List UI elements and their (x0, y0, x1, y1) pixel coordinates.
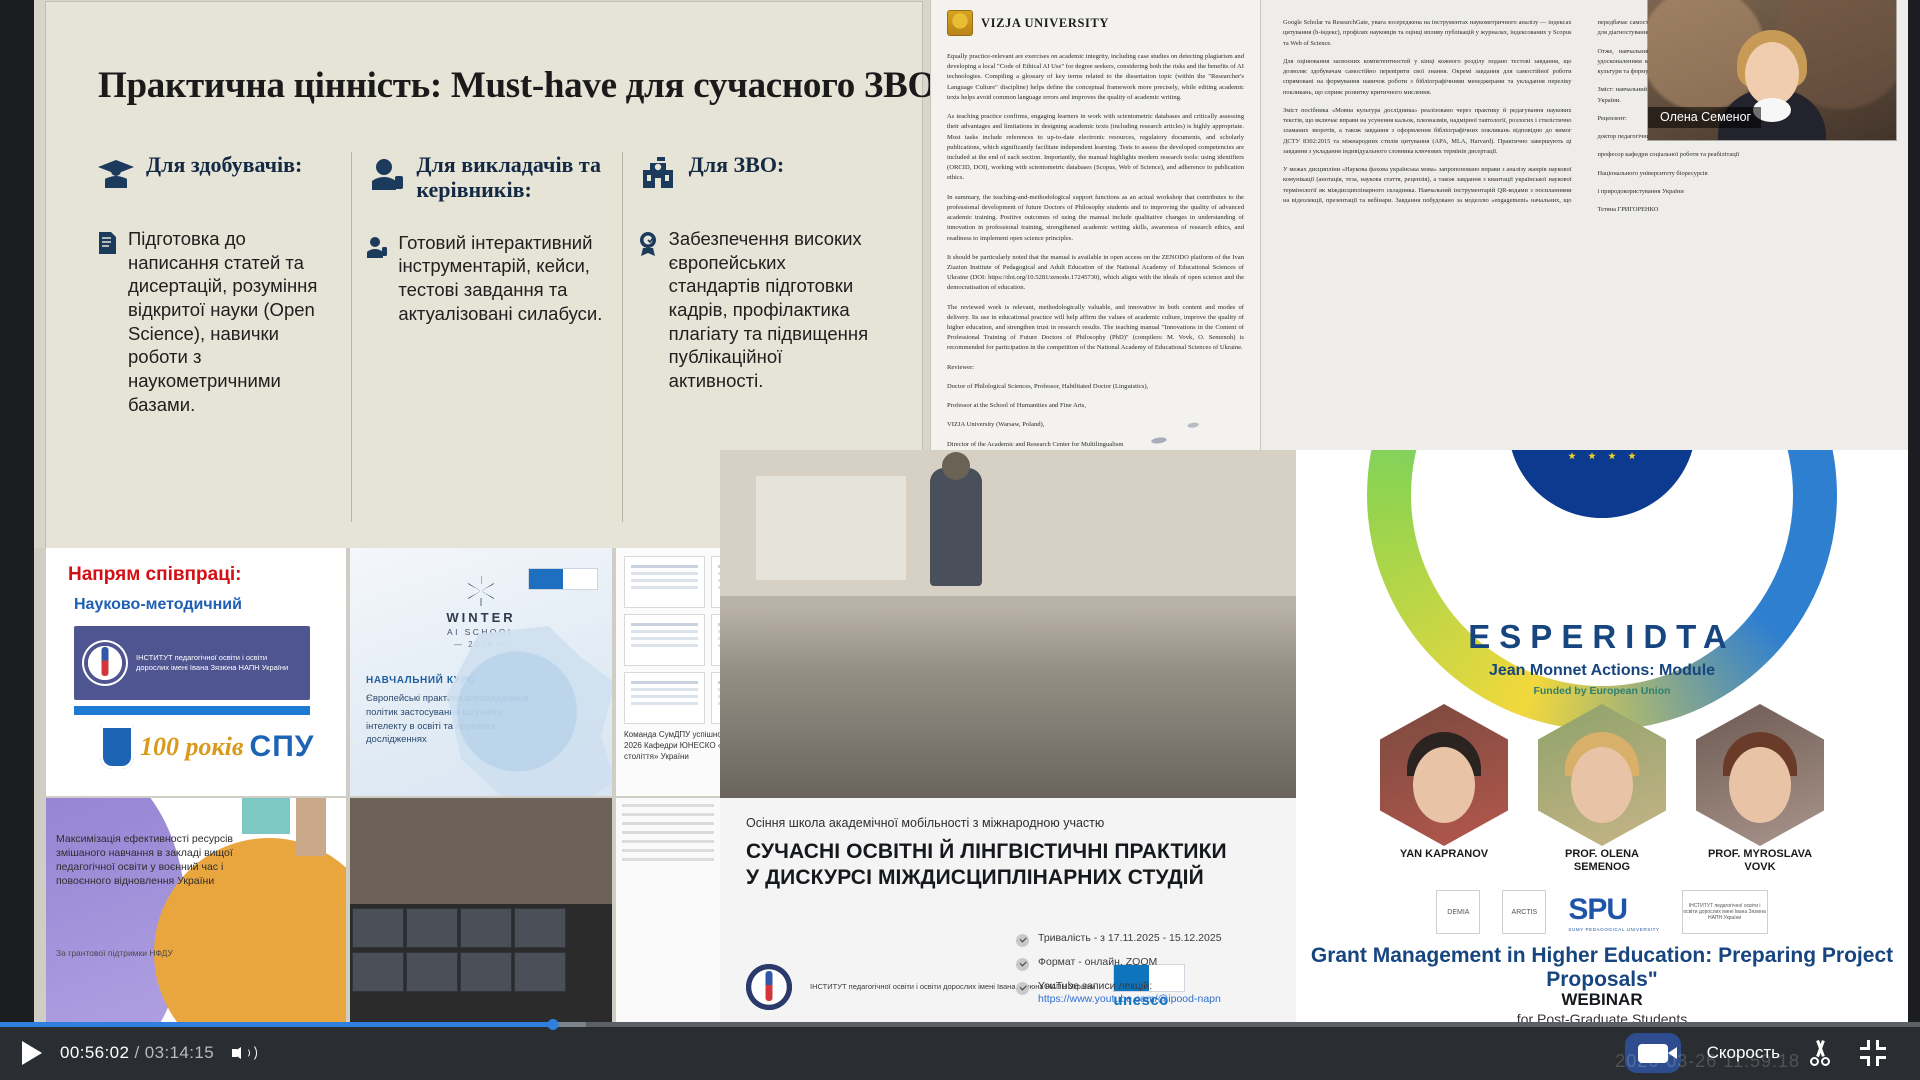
poster-logos: DEMIA ARCTIS SPU SUMY PEDAGOGICAL UNIVER… (1296, 890, 1908, 934)
doc-paragraph: Для оцінювання засвоєних компетентностей… (1283, 57, 1572, 98)
poster-people-names: YAN KAPRANOV PROF. OLENA SEMENOG PROF. M… (1296, 848, 1908, 874)
person-icon (366, 235, 388, 264)
certificate-thumb (624, 556, 705, 608)
zoom-tile (514, 908, 566, 948)
column-header: Для ЗВО: (637, 152, 878, 199)
panel-eyebrow: Осіння школа академічної мобільності з м… (746, 816, 1270, 830)
panel-title-line1: СУЧАСНІ ОСВІТНІ Й ЛІНГВІСТИЧНІ ПРАКТИКИ (746, 839, 1270, 865)
total-time: 03:14:15 (145, 1043, 214, 1062)
column-text: Забезпечення високих європейських станда… (669, 227, 878, 393)
exit-fullscreen-icon[interactable] (1860, 1040, 1886, 1066)
panel-title-line2: У ДИСКУРСІ МІЖДИСЦИПЛІНАРНИХ СТУДІЙ (746, 865, 1270, 891)
column-body: Готовий інтерактивний інструментарій, ке… (366, 231, 607, 326)
shield-icon (100, 725, 134, 769)
seek-played (0, 1022, 553, 1027)
column-body: Забезпечення високих європейських станда… (637, 227, 878, 393)
text-line (622, 858, 714, 861)
participant-video-tile[interactable]: Олена Семеног (1648, 0, 1896, 140)
institute-logo: ІНСТИТУТ педагогічної освіти і освіти до… (1682, 890, 1768, 934)
decorative-tan-block (296, 798, 326, 856)
player-controls: 00:56:02 / 03:14:15 Скорость 2026-03-26 … (0, 1026, 1920, 1080)
check-text: Тривалість - з 17.11.2025 - 15.12.2025 (1038, 932, 1222, 946)
doc-paragraph: As teaching practice confirms, engaging … (947, 112, 1244, 184)
recipient-line: професор кафедри соціальної роботи та ре… (1598, 150, 1887, 160)
check-item: Тривалість - з 17.11.2025 - 15.12.2025 (1016, 932, 1278, 947)
reviewer-label: Reviewer: (947, 363, 1244, 373)
certificate-thumb (624, 614, 705, 666)
text-line (622, 813, 714, 816)
award-badge-icon (637, 231, 659, 262)
mfdu-title: Максимізація ефективності ресурсів зміша… (56, 832, 246, 888)
zoom-tile (460, 952, 512, 992)
volume-icon[interactable] (232, 1042, 258, 1064)
youtube-link[interactable]: https://www.youtube.com/@ipood-napn (1038, 993, 1221, 1005)
decorative-teal-block (242, 798, 290, 834)
check-item: Формат - онлайн, ZOOM (1016, 956, 1278, 971)
doc-paragraph: Equally practice-relevant are exercises … (947, 52, 1244, 103)
spu-wordmark: SPU (1568, 893, 1627, 926)
doc-paragraph: Зміст посібника «Мовна культура дослідни… (1283, 106, 1572, 157)
person-name: PROF. MYROSLAVA VOVK (1696, 848, 1824, 874)
card-subtitle: Науково-методичний (74, 596, 332, 614)
column-heading: Для ЗВО: (689, 152, 785, 177)
panel-checklist: Тривалість - з 17.11.2025 - 15.12.2025 Ф… (1016, 932, 1278, 1016)
conference-photo (720, 450, 1296, 798)
photo-audience (720, 608, 1296, 798)
column-heading: Для здобувачів: (146, 152, 302, 177)
document-icon (96, 231, 118, 260)
europe-map-graphic (447, 626, 612, 796)
poster-webinar-label: WEBINAR (1296, 990, 1908, 1010)
photo-projection-screen (756, 476, 906, 580)
slide-column-students: Для здобувачів: Підготовка до написання … (82, 152, 351, 522)
snowflake-icon (466, 576, 496, 606)
timecode: 00:56:02 / 03:14:15 (60, 1043, 214, 1063)
poster-title: Grant Management in Higher Education: Pr… (1296, 944, 1908, 993)
letterbox-left (0, 0, 34, 1026)
seek-thumb[interactable] (547, 1019, 558, 1030)
spu-logo: SPU SUMY PEDAGOGICAL UNIVERSITY (1568, 890, 1659, 934)
recipient-line: Національного університету біоресурсів (1598, 169, 1887, 179)
recipient-line: Тетяна ГРИГОРЕНКО (1598, 205, 1887, 215)
zoom-tile (352, 908, 404, 948)
grant-webinar-poster: ESPERIDTA Jean Monnet Actions: Module Fu… (1296, 450, 1908, 1026)
text-line (622, 804, 714, 807)
doc-paragraph: It should be particularly noted that the… (947, 253, 1244, 294)
teacher-icon (366, 154, 406, 199)
institute-name: ІНСТИТУТ педагогічної освіти і освіти до… (136, 653, 302, 673)
text-line (622, 831, 714, 834)
anniversary-years: 100 років (140, 732, 244, 762)
university-building-icon (637, 154, 679, 199)
controls-left-group: 00:56:02 / 03:14:15 (0, 1041, 258, 1065)
slide-title: Практична цінність: Must-have для сучасн… (98, 64, 898, 107)
check-icon (1016, 982, 1029, 995)
video-player-page: Практична цінність: Must-have для сучасн… (0, 0, 1920, 1080)
spu-wordmark: СПУ (250, 730, 315, 764)
zoom-tile (406, 908, 458, 948)
column-body: Підготовка до написання статей та дисерт… (96, 227, 337, 416)
check-icon (1016, 958, 1029, 971)
text-line (622, 822, 714, 825)
graduation-cap-icon (96, 154, 136, 199)
institute-seal-icon (746, 964, 792, 1010)
seek-bar[interactable] (0, 1022, 1920, 1027)
zoom-tile (352, 952, 404, 992)
doc-paragraph: In summary, the teaching-and-methodologi… (947, 193, 1244, 244)
letterbox-right (1908, 0, 1920, 1026)
check-item: YouTube записи лекцій: https://www.youtu… (1016, 980, 1278, 1007)
scissors-icon[interactable] (1806, 1040, 1834, 1066)
zoom-tile (460, 908, 512, 948)
photo-speaker (930, 468, 982, 586)
demia-logo: DEMIA (1436, 890, 1480, 934)
winter-title: WINTER (366, 610, 596, 625)
current-time: 00:56:02 (60, 1043, 129, 1062)
mfdu-grant-card: Максимізація ефективності ресурсів зміша… (46, 798, 346, 1026)
recipient-line: і природокористування України (1598, 187, 1887, 197)
column-heading: Для викладачів та керівників: (416, 152, 607, 203)
video-surface[interactable]: Практична цінність: Must-have для сучасн… (34, 0, 1908, 1026)
document-brand: VIZJA UNIVERSITY (981, 16, 1109, 31)
institute-badge: ІНСТИТУТ педагогічної освіти і освіти до… (74, 626, 310, 700)
arctis-logo: ARCTIS (1502, 890, 1546, 934)
spu-subtitle: SUMY PEDAGOGICAL UNIVERSITY (1568, 927, 1659, 932)
zoom-tile (514, 952, 566, 992)
poster-people-photos (1296, 704, 1908, 846)
mfdu-support: За грантової підтримки НФДУ (56, 948, 236, 958)
zoom-tile (406, 952, 458, 992)
text-line (622, 840, 714, 843)
zoom-meeting-grid (350, 798, 612, 1026)
person-name: YAN KAPRANOV (1380, 848, 1508, 874)
person-photo (1538, 704, 1666, 846)
check-icon (1016, 934, 1029, 947)
pip-face (1745, 42, 1799, 106)
spu-anniversary-logo: 100 років СПУ (100, 725, 332, 769)
unesco-logo-icon (528, 568, 598, 590)
certificate-thumb (624, 672, 705, 724)
timestamp-watermark: 2026-03-26 11:59:18 (1615, 1051, 1800, 1072)
column-header: Для здобувачів: (96, 152, 337, 199)
column-text: Готовий інтерактивний інструментарій, ке… (398, 231, 607, 326)
slide-column-teachers: Для викладачів та керівників: Готовий ін… (351, 152, 621, 522)
bottom-collage: Напрям співпраці: Науково-методичний ІНС… (34, 548, 1908, 1026)
participant-name-label: Олена Семеног (1648, 107, 1761, 128)
person-name: PROF. OLENA SEMENOG (1538, 848, 1666, 874)
card-title: Напрям співпраці: (68, 564, 332, 586)
document-header: VIZJA UNIVERSITY (947, 10, 1244, 36)
heraldic-crest-icon (947, 10, 973, 36)
play-icon[interactable] (22, 1041, 42, 1065)
poster-subtitle: Jean Monnet Actions: Module (1296, 662, 1908, 680)
column-header: Для викладачів та керівників: (366, 152, 607, 203)
reviewer-line: Doctor of Philological Sciences, Profess… (947, 382, 1244, 392)
check-text: YouTube записи лекцій: https://www.youtu… (1038, 980, 1221, 1007)
autumn-school-panel: Осіння школа академічної мобільності з м… (720, 798, 1296, 1026)
person-photo (1380, 704, 1508, 846)
column-text: Підготовка до написання статей та дисерт… (128, 227, 337, 416)
person-photo (1696, 704, 1824, 846)
eu-stars (1568, 452, 1636, 460)
divider (74, 706, 310, 715)
zoom-main-tile (350, 798, 612, 904)
poster-brand: ESPERIDTA (1296, 618, 1908, 656)
doc-paragraph: The reviewed work is relevant, methodolo… (947, 303, 1244, 354)
time-separator: / (135, 1043, 140, 1062)
check-text: Формат - онлайн, ZOOM (1038, 956, 1157, 970)
check-label: YouTube записи лекцій: (1038, 980, 1152, 992)
institute-seal-icon (82, 640, 128, 686)
document-thumbnail (616, 798, 720, 1026)
poster-funded-by: Funded by European Union (1296, 685, 1908, 697)
winter-ai-school-card: WINTER AI SCHOOL — 2026 — НАВЧАЛЬНИЙ КУР… (350, 548, 612, 796)
cooperation-direction-card: Напрям співпраці: Науково-методичний ІНС… (46, 548, 346, 796)
doc-paragraph: Google Scholar та ResearchGate, увага зо… (1283, 18, 1572, 49)
text-line (622, 849, 714, 852)
